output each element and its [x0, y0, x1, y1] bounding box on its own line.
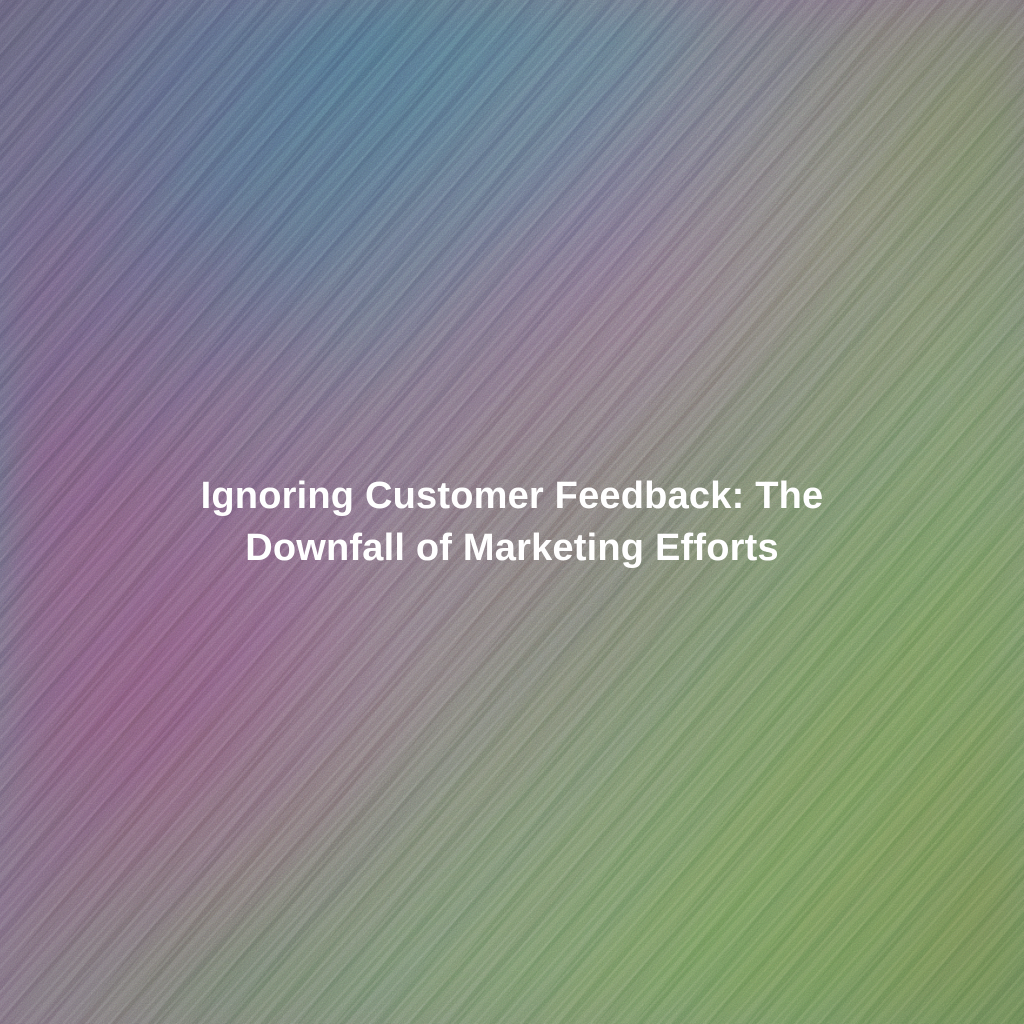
header-image-canvas: Ignoring Customer Feedback: The Downfall… [0, 0, 1024, 1024]
title-block: Ignoring Customer Feedback: The Downfall… [152, 470, 872, 574]
page-title: Ignoring Customer Feedback: The Downfall… [152, 470, 872, 574]
